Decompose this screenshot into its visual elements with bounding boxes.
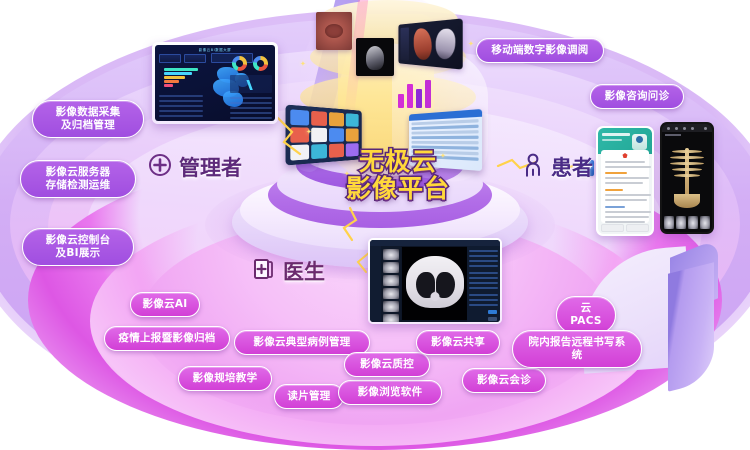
patient-report-actions[interactable] — [601, 224, 649, 232]
doctor-avatar-illustration — [632, 134, 647, 150]
patient-report-phone[interactable] — [596, 126, 654, 236]
ct-thorax — [406, 256, 464, 308]
role-admin-label: 管理者 — [179, 152, 242, 182]
doctor-viewer-content — [370, 240, 500, 322]
download-report-button[interactable] — [626, 224, 649, 232]
pill-cloud-pacs[interactable]: 云PACS — [556, 296, 616, 334]
pill-image-cloud-qc[interactable]: 影像云质控 — [344, 352, 430, 377]
pill-image-cloud-mdt[interactable]: 影像云会诊 — [462, 368, 546, 393]
hospital-logo-icon — [623, 153, 628, 158]
platform-title-line1: 无极云 — [359, 147, 437, 176]
patient-3d-content — [662, 124, 712, 232]
admin-dashboard-content: 影像云BI数据大屏 — [155, 45, 275, 121]
patient-3d-toolbar[interactable] — [662, 124, 712, 132]
doctor-viewer-screen[interactable] — [368, 238, 502, 324]
pill-image-cloud-console-bi[interactable]: 影像云控制台 及BI展示 — [22, 228, 134, 266]
document-plus-icon — [252, 257, 276, 285]
dashboard-table-left — [159, 95, 203, 121]
role-doctor[interactable]: 医生 — [252, 256, 325, 286]
donut-chart-1 — [232, 56, 247, 71]
pill-mobile-image-retrieval[interactable]: 移动端数字影像调阅 — [476, 38, 604, 63]
pill-epidemic-reporting-archiving[interactable]: 疫情上报暨影像归档 — [104, 326, 230, 351]
role-doctor-label: 医生 — [283, 256, 325, 286]
viewer-tool-rail[interactable] — [370, 246, 381, 322]
dashboard-kpi-2 — [184, 54, 206, 63]
donut-chart-2 — [253, 56, 268, 71]
platform-title-line2: 影像平台 — [318, 175, 478, 202]
viewer-ct-image[interactable] — [402, 247, 468, 320]
platform-title: 无极云 影像平台 — [318, 148, 478, 202]
infographic-stage: ✦ ✦ ✦ ✦ ✦ 无极云 影像平台 管理者 患者 — [0, 0, 750, 450]
viewer-series-thumbnails[interactable] — [381, 246, 401, 322]
viewer-save-button[interactable] — [488, 310, 497, 314]
skeleton-pelvis — [674, 194, 700, 208]
circle-plus-icon — [148, 153, 172, 181]
role-admin[interactable]: 管理者 — [148, 152, 242, 182]
dashboard-title-text: 影像云BI数据大屏 — [199, 47, 231, 52]
patient-3d-phone[interactable] — [660, 122, 714, 234]
dashboard-bar-chart — [159, 67, 203, 91]
pill-image-data-collection[interactable]: 影像数据采集 及归档管理 — [32, 100, 144, 138]
share-report-button[interactable] — [601, 224, 624, 232]
skeleton-3d-render[interactable] — [670, 148, 704, 202]
pill-imaging-residency-training[interactable]: 影像规培教学 — [178, 366, 272, 391]
person-icon — [522, 153, 544, 181]
dashboard-trend-chart — [230, 75, 272, 93]
pill-image-cloud-ai[interactable]: 影像云AI — [130, 292, 200, 317]
ct-spine — [431, 292, 440, 301]
role-patient-label: 患者 — [551, 152, 593, 182]
patient-report-card — [601, 150, 649, 223]
pill-reading-management[interactable]: 读片管理 — [274, 384, 344, 409]
patient-report-content — [598, 128, 652, 234]
role-patient[interactable]: 患者 — [522, 152, 593, 182]
dashboard-donut-charts — [230, 53, 272, 71]
dashboard-kpi-1 — [159, 54, 181, 63]
pill-image-consultation[interactable]: 影像咨询问诊 — [590, 84, 684, 109]
patient-3d-slice-strip[interactable] — [664, 216, 710, 229]
dashboard-table-right — [230, 97, 272, 121]
viewer-cancel-button[interactable] — [488, 317, 497, 321]
admin-dashboard-screen[interactable]: 影像云BI数据大屏 — [152, 42, 278, 124]
pill-image-cloud-sharing[interactable]: 影像云共享 — [416, 330, 500, 355]
pill-image-cloud-server[interactable]: 影像云服务器 存储检测运维 — [20, 160, 136, 198]
viewer-report-panel[interactable] — [467, 246, 500, 322]
pill-typical-case-management[interactable]: 影像云典型病例管理 — [234, 330, 370, 355]
pill-image-viewer-software[interactable]: 影像浏览软件 — [338, 380, 442, 405]
pill-remote-report-writing-system[interactable]: 院内报告远程书写系统 — [512, 330, 642, 368]
